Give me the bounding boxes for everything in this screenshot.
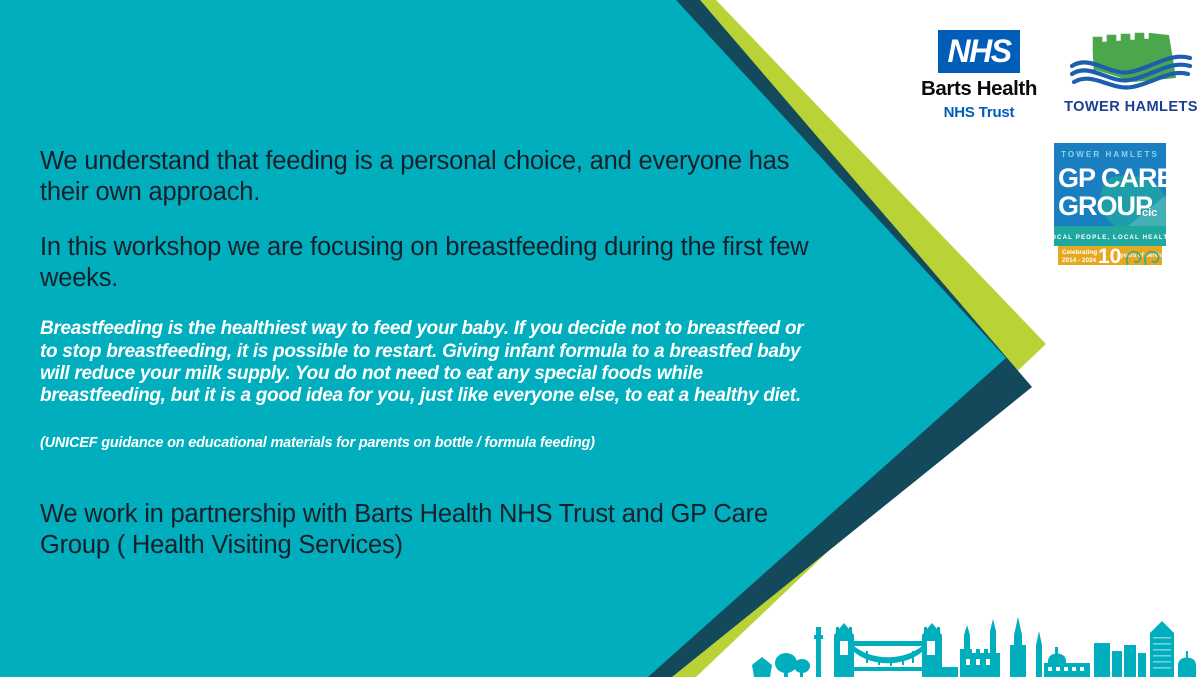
unicef-quote-source: (UNICEF guidance on educational material… xyxy=(40,435,830,452)
slide-canvas: We understand that feeding is a personal… xyxy=(0,0,1200,677)
nhs-barts-health-logo: NHS Barts Health NHS Trust xyxy=(920,26,1038,120)
tower-hamlets-logo: TOWER HAMLETS xyxy=(1064,26,1198,115)
gp-logo-strapline: LOCAL PEOPLE, LOCAL HEALTH xyxy=(1054,234,1166,241)
gp-care-group-logo: TOWER HAMLETS GP CARE GROUP cic LOCAL PE… xyxy=(1054,143,1166,265)
london-skyline-icon xyxy=(748,605,1200,677)
paragraph-partnership: We work in partnership with Barts Health… xyxy=(40,499,780,561)
gp-logo-years-number: 10 xyxy=(1098,245,1121,265)
slide-text-block: We understand that feeding is a personal… xyxy=(40,146,830,561)
tower-hamlets-label: TOWER HAMLETS xyxy=(1064,100,1198,115)
gp-logo-years-range: 2014 - 2024 xyxy=(1062,257,1097,264)
gp-logo-celebrating: Celebrating xyxy=(1062,249,1097,256)
gp-logo-line-2: GP CARE xyxy=(1058,163,1166,193)
tower-and-waves-icon xyxy=(1064,26,1198,98)
logo-row: NHS Barts Health NHS Trust TOWER HAMLETS xyxy=(920,26,1198,120)
paragraph-personal-choice: We understand that feeding is a personal… xyxy=(40,146,830,208)
unicef-quote: Breastfeeding is the healthiest way to f… xyxy=(40,318,825,407)
gp-logo-line-3: GROUP xyxy=(1058,191,1153,221)
gp-logo-suffix: cic xyxy=(1142,207,1157,219)
nhs-trust-label: NHS Trust xyxy=(920,105,1038,120)
nhs-organisation-name: Barts Health xyxy=(920,79,1038,100)
gp-logo-line-1: TOWER HAMLETS xyxy=(1061,150,1159,159)
paragraph-workshop-focus: In this workshop we are focusing on brea… xyxy=(40,232,830,294)
nhs-mark-icon: NHS xyxy=(938,30,1019,73)
